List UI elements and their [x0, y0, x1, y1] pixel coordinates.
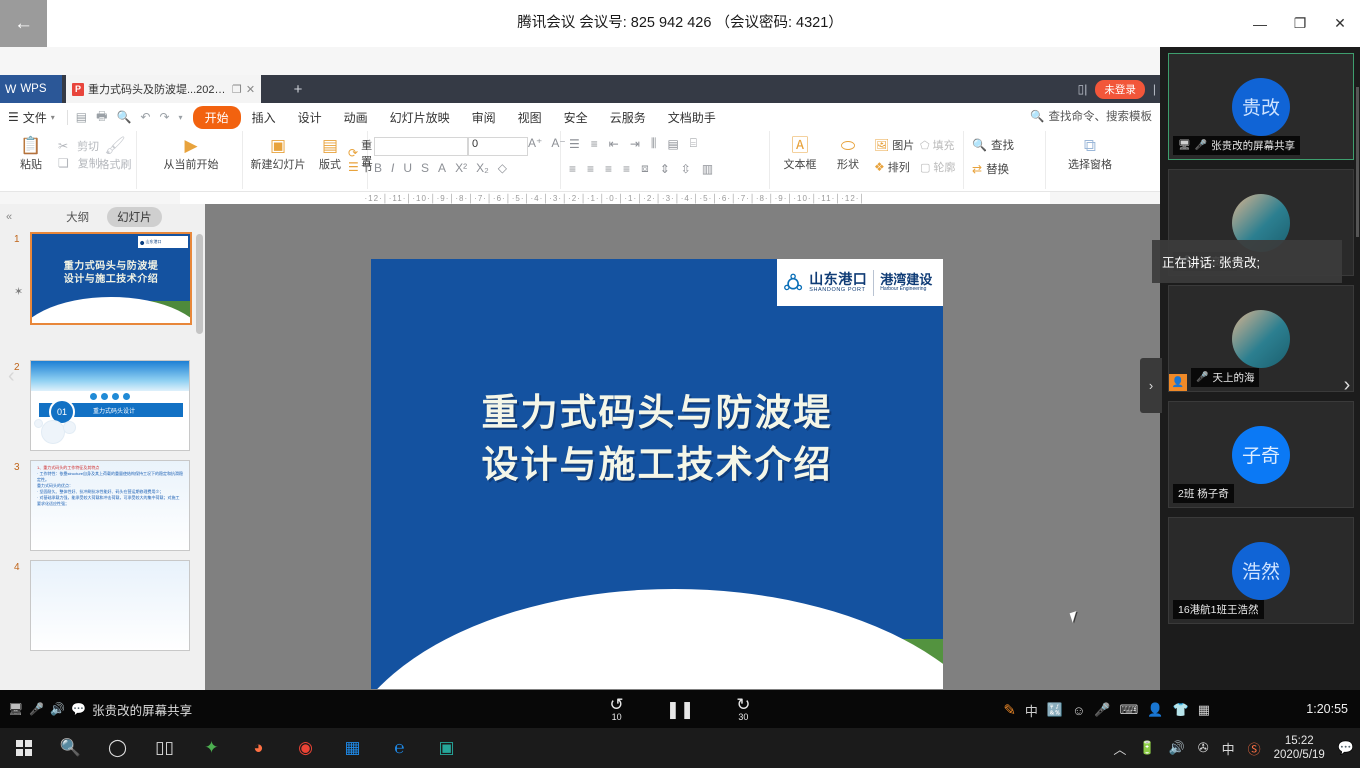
replace-icon: ⇄ [972, 163, 982, 175]
chevron-down-icon: ▾ [51, 113, 55, 122]
tab-close-icon[interactable]: ✕ [246, 83, 255, 96]
thumbnail-list[interactable]: 1 ⬤ 山东港口 重力式码头与防波堤 设计与施工技术介绍 [0, 230, 205, 690]
notifications-icon[interactable]: 💬 [1338, 740, 1354, 756]
outline-label: 轮廓 [933, 159, 955, 175]
select-pane-button[interactable]: ⧉ 选择窗格 [1058, 137, 1122, 172]
participant-label: 16港航1班王浩然 [1173, 600, 1264, 619]
paragraph-row-1: ☰ ≡ ⇤ ⇥ ⫼ ▤ ⌸ [569, 136, 697, 151]
slide-thumbnail-panel: « 大纲 幻灯片 1 ⬤ 山东港口 重力式码头与 [0, 204, 206, 690]
battery-icon[interactable]: 🔋 [1139, 740, 1155, 756]
subscript-icon[interactable]: X₂ [476, 161, 489, 175]
horizontal-ruler: ·12·│·11·│·10·│·9·│·8·│·7·│·6·│·5·│·4·│·… [180, 192, 1050, 204]
paste-button[interactable]: 📋 粘贴 [8, 137, 54, 172]
network-icon[interactable]: ✇ [1198, 740, 1209, 756]
slide-title-line1: 重力式码头与防波堤 [371, 387, 943, 439]
tab-insert[interactable]: 插入 [241, 106, 287, 129]
shandong-port-logo-icon: 🜛 [783, 272, 803, 294]
decrease-indent-icon[interactable]: ⇤ [609, 137, 619, 151]
windows-taskbar: 🔍 ◯ ▯▯ ✦ ◕ ◉ ▦ ℮ ▣ ︿ 🔋 🔊 ✇ 中 Ⓢ 15:22 202… [0, 728, 1360, 768]
paragraph-spacing-icon[interactable]: ⇳ [681, 162, 691, 176]
thumbnail-bubble [63, 421, 76, 434]
logo-cn: 山东港口 [809, 272, 867, 287]
volume-icon[interactable]: 🔊 [1169, 740, 1185, 756]
tab-review[interactable]: 审阅 [461, 106, 507, 129]
logo-text-secondary: 港湾建设 Harbour Engineering [880, 273, 932, 293]
thumbnail-prev-button[interactable]: ‹ [8, 365, 15, 388]
copy-icon: ❏ [58, 156, 69, 170]
ime-toolbar[interactable]: ✎ 中 🔣 ☺ 🎤 ⌨ 👤 👕 ▦ [1003, 698, 1210, 722]
tab-cloud[interactable]: 云服务 [599, 106, 657, 129]
host-badge-icon: 👤 [1169, 374, 1187, 391]
save-icon[interactable]: ▤ [76, 110, 87, 124]
edge-icon[interactable]: ℮ [376, 728, 423, 768]
ime-menu-icon[interactable]: ▦ [1198, 702, 1210, 718]
italic-icon[interactable]: I [391, 161, 394, 175]
font-format-row: B I U S A X² X₂ ◇ [374, 161, 507, 175]
print-preview-icon[interactable]: 🔍 [116, 110, 131, 124]
replace-label: 替换 [986, 161, 1009, 177]
shandong-port-logo-icon: ⬤ [140, 240, 144, 245]
participant-name: 16港航1班王浩然 [1178, 602, 1259, 617]
file-menu-button[interactable]: ☰ 文件 ▾ [0, 109, 63, 126]
wps-logo-icon: W [5, 82, 16, 96]
thumbnail-dots [90, 393, 130, 400]
line-spacing-icon[interactable]: ⇕ [660, 162, 670, 176]
document-tab-title: 重力式码头及防波堤...2020.5.19 [88, 81, 228, 97]
increase-indent-icon[interactable]: ⇥ [630, 137, 640, 151]
thumbnail-item[interactable]: 4 [0, 558, 205, 650]
redo-icon[interactable]: ↷ [159, 110, 169, 124]
minimize-button[interactable]: — [1240, 16, 1280, 32]
ribbon-group-editing: 🔍 查找 ⇄ 替换 [964, 131, 1046, 189]
participant-tile[interactable]: 👤 🎤 天上的海 [1168, 285, 1354, 392]
maximize-button[interactable]: ❐ [1280, 15, 1320, 32]
outline-button[interactable]: ▢ 轮廓 [920, 159, 955, 175]
thumbnail-logo: ⬤ 山东港口 [138, 236, 188, 248]
split-view-icon[interactable]: ▯| [1078, 82, 1088, 96]
picture-button[interactable]: 🖼 图片 [874, 137, 914, 153]
tab-security[interactable]: 安全 [553, 106, 599, 129]
command-search[interactable]: 🔍 查找命令、搜索模板 [1030, 108, 1152, 124]
document-tab[interactable]: P 重力式码头及防波堤...2020.5.19 ❐ ✕ [66, 75, 261, 103]
close-button[interactable]: ✕ [1320, 15, 1360, 32]
slide-edit-area[interactable]: 🜛 山东港口 SHANDONG PORT 港湾建设 Harbour Engine… [205, 204, 1160, 690]
cut-icon: ✂ [58, 139, 68, 153]
slide-white-wave [371, 589, 943, 689]
tab-slideshow[interactable]: 幻灯片放映 [379, 106, 461, 129]
fill-label: 填充 [933, 137, 955, 153]
thumbnail-number: 4 [14, 562, 20, 573]
numbered-list-icon[interactable]: ≡ [591, 137, 598, 151]
thumbnail-slide-2[interactable]: 重力式码头设计 01 [30, 360, 190, 451]
ime-lang-icon[interactable]: 中 [1025, 701, 1038, 720]
tab-assistant[interactable]: 文档助手 [657, 106, 727, 129]
file-menu-label: 文件 [23, 109, 47, 126]
tab-view[interactable]: 视图 [507, 106, 553, 129]
tabstrip-right-controls: ▯| 未登录 | [1078, 75, 1156, 103]
distribute-icon[interactable]: ⧈ [641, 161, 649, 176]
meeting-window-controls: — ❐ ✕ [1240, 0, 1360, 47]
print-icon[interactable]: 🖶 [96, 107, 107, 128]
superscript-icon[interactable]: X² [455, 161, 467, 175]
slide-title[interactable]: 重力式码头与防波堤 设计与施工技术介绍 [371, 387, 943, 491]
select-pane-label: 选择窗格 [1068, 156, 1112, 172]
meeting-icon[interactable]: ▣ [423, 728, 470, 768]
participant-video-rail[interactable]: 贵改 🖥 🎤 张贵改的屏幕共享 🎤 4班高旭 👤 🎤 天上的海 子奇 [1160, 47, 1360, 690]
logo2-cn: 港湾建设 [880, 273, 932, 287]
pause-button[interactable]: ❚❚ [666, 701, 695, 718]
ribbon-group-clipboard: 📋 粘贴 ✂ 剪切 ❏ 复制 🖌 格式刷 [0, 131, 137, 189]
thumbnail-title: 重力式码头与防波堤 设计与施工技术介绍 [32, 260, 190, 286]
ribbon-group-font: 0 A⁺ A⁻ B I U S A X² X₂ ◇ [368, 131, 561, 189]
tab-outline[interactable]: 大纲 [56, 207, 99, 227]
media-icon[interactable]: ▦ [329, 728, 376, 768]
windows-logo-icon [16, 740, 32, 756]
paragraph-row-2: ≡ ≡ ≡ ≡ ⧈ ⇕ ⇳ ▥ [569, 161, 713, 176]
thumbnail-sky [31, 361, 189, 391]
thumbnail-slide-4[interactable] [30, 560, 190, 651]
thumbnail-title-line2: 设计与施工技术介绍 [32, 273, 190, 286]
ribbon-group-paragraph: ☰ ≡ ⇤ ⇥ ⫼ ▤ ⌸ ≡ ≡ ≡ ≡ ⧈ ⇕ ⇳ ▥ [561, 131, 770, 189]
format-painter-icon: 🖌 [104, 137, 126, 154]
replace-button[interactable]: ⇄ 替换 [972, 161, 1009, 177]
increase-font-icon[interactable]: A⁺ [528, 136, 542, 150]
thumbnail-text-line: · 工作特性：依靠structure自身及其上荷载的重量使结构保持工况下的稳定和… [37, 471, 183, 483]
text-direction-icon[interactable]: ⫼ [651, 136, 657, 151]
start-from-current-label: 从当前开始 [164, 156, 219, 172]
slide-title-line2: 设计与施工技术介绍 [371, 439, 943, 491]
thumbnail-item[interactable]: 2 重力式码头设计 01 [0, 358, 205, 450]
current-slide[interactable]: 🜛 山东港口 SHANDONG PORT 港湾建设 Harbour Engine… [371, 259, 943, 689]
rail-scrollbar[interactable] [1356, 87, 1359, 237]
layout-icon: ▤ [322, 137, 338, 154]
speaking-toast: 正在讲话: 张贵改; [1152, 240, 1342, 283]
command-search-label: 查找命令、搜索模板 [1049, 108, 1153, 124]
avatar: 子奇 [1232, 426, 1290, 484]
thumbnail-slide-1[interactable]: ⬤ 山东港口 重力式码头与防波堤 设计与施工技术介绍 [30, 232, 192, 325]
ime-lang-tray-icon[interactable]: 中 [1222, 739, 1235, 758]
find-label: 查找 [991, 137, 1014, 153]
ime-skin-icon[interactable]: 👕 [1173, 702, 1189, 718]
avatar-photo [1232, 310, 1290, 368]
thumbnail-bubble [34, 419, 43, 428]
cut-button[interactable]: ✂ 剪切 [58, 138, 99, 154]
text-box-label: 文本框 [784, 156, 817, 172]
picture-icon: 🖼 [874, 139, 889, 151]
wps-menubar: ☰ 文件 ▾ ▤ 🖶 🔍 ↶ ↷ ▾ 开始 插入 设计 动画 幻灯片放映 审阅 … [0, 103, 1160, 131]
mouse-cursor [1070, 611, 1080, 623]
thumbnail-bubble [41, 420, 65, 444]
forward-icon: ↻ [736, 696, 750, 713]
new-tab-button[interactable]: + [288, 75, 308, 103]
find-icon: 🔍 [972, 139, 987, 151]
forward-30-button[interactable]: ↻ 30 [736, 696, 750, 722]
meeting-titlebar: ← 腾讯会议 会议号: 825 942 426 （会议密码: 4321） — ❐… [0, 0, 1360, 47]
sogou-tray-icon[interactable]: Ⓢ [1248, 739, 1261, 758]
screen-share-icon: 🖥 [1178, 140, 1191, 151]
find-button[interactable]: 🔍 查找 [972, 137, 1014, 153]
play-circle-icon: ▶ [184, 137, 197, 154]
wps-window: W WPS P 重力式码头及防波堤...2020.5.19 ❐ ✕ + ▯| 未… [0, 47, 1160, 690]
login-badge[interactable]: 未登录 [1095, 80, 1145, 99]
pause-icon: ❚❚ [666, 701, 695, 718]
ime-symbol-icon[interactable]: 🔣 [1047, 702, 1063, 718]
screen: ← 腾讯会议 会议号: 825 942 426 （会议密码: 4321） — ❐… [0, 0, 1360, 768]
rail-prev-button[interactable]: › [1140, 358, 1162, 413]
participant-tile[interactable]: 子奇 2班 杨子奇 [1168, 401, 1354, 508]
app-icon[interactable]: ◕ [235, 728, 282, 768]
logo-text-primary: 山东港口 SHANDONG PORT [809, 272, 867, 293]
clear-format-icon[interactable]: ◇ [498, 161, 507, 175]
align-text-icon[interactable]: ▤ [667, 137, 678, 151]
menubar-divider [67, 110, 68, 125]
task-view-icon[interactable]: ▯▯ [141, 728, 188, 768]
quick-access-toolbar: ▤ 🖶 🔍 ↶ ↷ ▾ [72, 107, 187, 128]
bullet-list-icon[interactable]: ☰ [569, 137, 580, 151]
thumbnail-item[interactable]: 1 ⬤ 山东港口 重力式码头与防波堤 设计与施工技术介绍 [0, 230, 205, 322]
strikethrough-icon[interactable]: S [421, 161, 429, 175]
undo-icon[interactable]: ↶ [140, 110, 150, 124]
thumbnail-item[interactable]: 3 1、重力式码头的工作特征及其特点 · 工作特性：依靠structure自身及… [0, 458, 205, 550]
convert-smartart-icon[interactable]: ⌸ [690, 136, 697, 151]
tab-design[interactable]: 设计 [287, 106, 333, 129]
layout-button[interactable]: ▤ 版式 [313, 137, 347, 172]
qat-more-icon[interactable]: ▾ [179, 113, 183, 122]
logo-en: SHANDONG PORT [809, 287, 867, 293]
ime-emoji-icon[interactable]: ☺ [1072, 703, 1085, 718]
participant-name: 天上的海 [1212, 370, 1254, 385]
start-from-current-button[interactable]: ▶ 从当前开始 [151, 137, 231, 172]
participant-label: 2班 杨子奇 [1173, 484, 1234, 503]
layout-label: 版式 [319, 156, 341, 172]
font-color-icon[interactable]: A [438, 161, 446, 175]
new-slide-label: 新建幻灯片 [251, 156, 306, 172]
rail-next-button[interactable]: › [1336, 358, 1358, 413]
columns-icon[interactable]: ▥ [702, 162, 713, 176]
bold-icon[interactable]: B [374, 161, 382, 175]
start-button[interactable] [0, 728, 47, 768]
underline-icon[interactable]: U [403, 161, 412, 175]
participant-label: 🎤 天上的海 [1191, 368, 1259, 387]
ribbon-group-slides: ▣ 新建幻灯片 ▤ 版式 ⟳ 重置 ☰ 节 [243, 131, 368, 189]
arrange-label: 排列 [888, 159, 910, 175]
slide-panel-header: « 大纲 幻灯片 [0, 204, 205, 230]
shape-button[interactable]: ⬭ 形状 [828, 137, 868, 172]
clock[interactable]: 15:22 2020/5/19 [1274, 734, 1325, 763]
thumbnail-title-line1: 重力式码头与防波堤 [32, 260, 190, 273]
ime-user-icon[interactable]: 👤 [1147, 702, 1163, 718]
slide-star-icon: ✶ [14, 285, 23, 298]
search-icon: 🔍 [1030, 109, 1044, 123]
font-size-input[interactable]: 0 [468, 137, 528, 156]
paste-label: 粘贴 [20, 156, 42, 172]
wps-logo-label: WPS [20, 83, 46, 95]
tab-start[interactable]: 开始 [193, 106, 241, 129]
justify-icon[interactable]: ≡ [623, 162, 630, 176]
new-slide-button[interactable]: ▣ 新建幻灯片 [247, 137, 309, 172]
logo-divider [873, 270, 874, 296]
align-right-icon[interactable]: ≡ [605, 162, 612, 176]
shape-label: 形状 [837, 156, 859, 172]
thumbnail-number: 1 [14, 234, 20, 245]
tab-restore-icon[interactable]: ❐ [232, 83, 242, 96]
arrange-button[interactable]: ❖ 排列 [874, 159, 910, 175]
paste-icon: 📋 [20, 137, 41, 154]
format-painter-button[interactable]: 🖌 格式刷 [95, 137, 135, 172]
ribbon-group-select: ⧉ 选择窗格 [1046, 131, 1136, 189]
new-slide-icon: ▣ [270, 137, 286, 154]
format-painter-label: 格式刷 [99, 156, 132, 172]
collapse-panel-icon[interactable]: « [6, 211, 12, 223]
mic-on-icon: 🎤 [1195, 140, 1207, 151]
avatar: 贵改 [1232, 78, 1290, 136]
tab-slides[interactable]: 幻灯片 [107, 207, 162, 227]
fill-button[interactable]: ⬠ 填充 [920, 137, 955, 153]
shape-icon: ⬭ [841, 137, 856, 154]
ime-keyboard-icon[interactable]: ⌨ [1120, 702, 1139, 718]
wps-ribbon: 📋 粘贴 ✂ 剪切 ❏ 复制 🖌 格式刷 ▶ [0, 131, 1160, 192]
tray-expand-icon[interactable]: ︿ [1113, 739, 1126, 758]
outline-icon: ▢ [920, 161, 930, 174]
thumbnail-text-line: · 对基础承载力强，能承受较大荷载和冲击荷载，可承受较大的集中荷载；对施工要求化… [37, 495, 183, 507]
participant-tile[interactable]: 贵改 🖥 🎤 张贵改的屏幕共享 [1168, 53, 1354, 160]
arrange-icon: ❖ [874, 161, 885, 173]
chrome-icon[interactable]: ◉ [282, 728, 329, 768]
text-box-button[interactable]: 🄰 文本框 [776, 137, 824, 172]
cortana-icon[interactable]: ◯ [94, 728, 141, 768]
thumbnail-number: 3 [14, 462, 20, 473]
thumbnail-slide-3[interactable]: 1、重力式码头的工作特征及其特点 · 工作特性：依靠structure自身及其上… [30, 460, 190, 551]
thumbnail-number: 2 [14, 362, 20, 373]
copy-button[interactable]: ❏ 复制 [58, 155, 100, 171]
fill-icon: ⬠ [920, 139, 930, 152]
section-icon: ☰ [348, 161, 359, 173]
avatar: 浩然 [1232, 542, 1290, 600]
powerpoint-file-icon: P [72, 83, 84, 96]
thumbnail-logo-label: 山东港口 [145, 239, 161, 245]
participant-name: 2班 杨子奇 [1178, 486, 1229, 501]
participant-label: 🖥 🎤 张贵改的屏幕共享 [1173, 136, 1300, 155]
sogou-pen-icon[interactable]: ✎ [1003, 701, 1016, 719]
taskbar-apps: 🔍 ◯ ▯▯ ✦ ◕ ◉ ▦ ℮ ▣ [47, 728, 470, 768]
font-family-input[interactable] [374, 137, 468, 156]
pycharm-icon[interactable]: ✦ [188, 728, 235, 768]
tab-overflow-icon[interactable]: | [1153, 82, 1156, 96]
align-center-icon[interactable]: ≡ [587, 162, 594, 176]
system-tray: ︿ 🔋 🔊 ✇ 中 Ⓢ 15:22 2020/5/19 💬 [1113, 728, 1360, 768]
thumbnail-section-title: 重力式码头设计 [93, 406, 135, 415]
thumbnail-scrollbar[interactable] [196, 234, 203, 334]
participant-tile[interactable]: 浩然 16港航1班王浩然 [1168, 517, 1354, 624]
mic-off-icon: 🎤 [1196, 372, 1208, 383]
clock-time: 15:22 [1285, 734, 1314, 748]
align-left-icon[interactable]: ≡ [569, 162, 576, 176]
ribbon-group-slideshow: ▶ 从当前开始 [137, 131, 243, 189]
clock-date: 2020/5/19 [1274, 748, 1325, 762]
rewind-10-button[interactable]: ↺ 10 [610, 696, 624, 722]
meeting-timer: 1:20:55 [1306, 702, 1348, 716]
text-box-icon: 🄰 [792, 137, 809, 154]
tab-animation[interactable]: 动画 [333, 106, 379, 129]
hamburger-icon: ☰ [8, 110, 19, 124]
slide-logo: 🜛 山东港口 SHANDONG PORT 港湾建设 Harbour Engine… [777, 259, 943, 306]
ribbon-group-drawing: 🄰 文本框 ⬭ 形状 🖼 图片 ❖ 排列 ⬠ 填充 [770, 131, 964, 189]
reset-icon: ⟳ [348, 147, 358, 159]
rewind-icon: ↺ [610, 696, 624, 713]
wps-logo: W WPS [0, 75, 62, 103]
select-pane-icon: ⧉ [1084, 137, 1096, 154]
logo2-en: Harbour Engineering [880, 287, 932, 293]
forward-label: 30 [738, 713, 748, 722]
rewind-label: 10 [612, 713, 622, 722]
speaking-toast-label: 正在讲话: 张贵改; [1162, 252, 1260, 271]
ribbon-tabs: 开始 插入 设计 动画 幻灯片放映 审阅 视图 安全 云服务 文档助手 [193, 106, 727, 129]
participant-name: 张贵改的屏幕共享 [1211, 138, 1295, 153]
ime-voice-icon[interactable]: 🎤 [1094, 702, 1110, 718]
search-icon[interactable]: 🔍 [47, 728, 94, 768]
picture-label: 图片 [892, 137, 914, 153]
meeting-title: 腾讯会议 会议号: 825 942 426 （会议密码: 4321） [0, 0, 1360, 47]
